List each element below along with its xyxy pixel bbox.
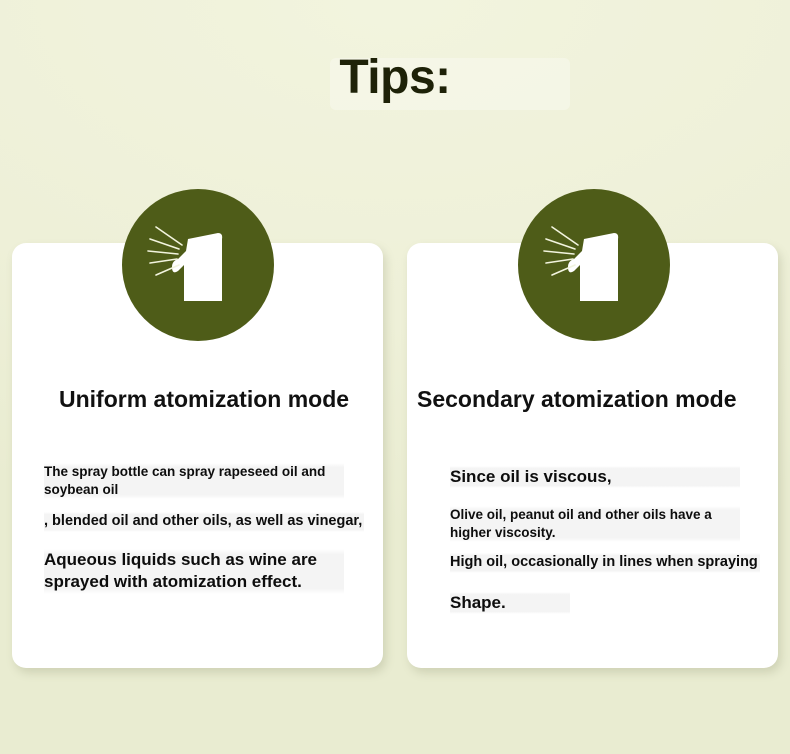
page-title: Tips: [0, 52, 790, 105]
secondary-paragraph-4: Shape. [450, 592, 570, 614]
tips-banner: Tips: Uniform atomization mode The spray… [0, 0, 790, 754]
secondary-paragraph-3: High oil, occasionally in lines when spr… [450, 553, 760, 573]
card-heading-uniform: Uniform atomization mode [59, 386, 349, 413]
secondary-paragraph-2: Olive oil, peanut oil and other oils hav… [450, 506, 740, 542]
uniform-paragraph-2: , blended oil and other oils, as well as… [44, 512, 364, 532]
uniform-paragraph-1: The spray bottle can spray rapeseed oil … [44, 463, 344, 499]
spray-bottle-icon [122, 189, 274, 341]
card-heading-secondary: Secondary atomization mode [417, 386, 737, 413]
secondary-paragraph-1: Since oil is viscous, [450, 466, 740, 488]
spray-bottle-icon [518, 189, 670, 341]
uniform-paragraph-3: Aqueous liquids such as wine are sprayed… [44, 549, 344, 594]
